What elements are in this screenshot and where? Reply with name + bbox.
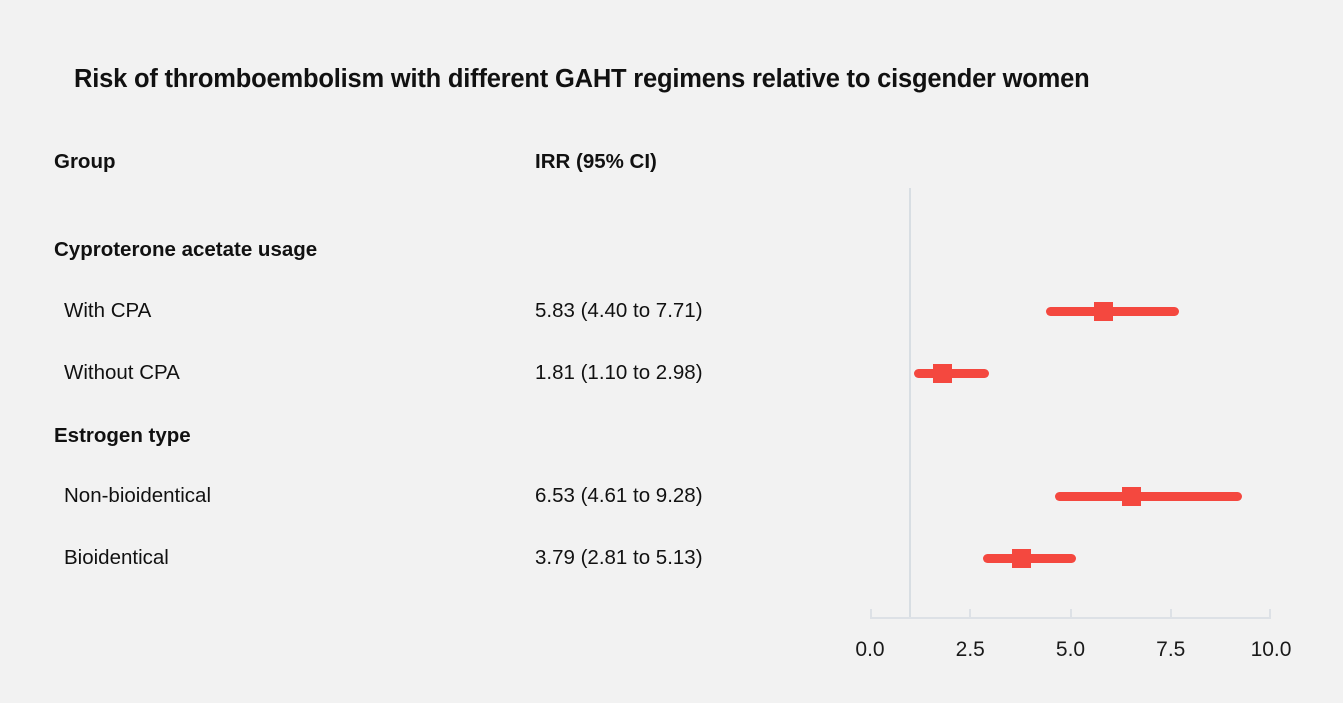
x-axis-tick-label: 10.0 xyxy=(1251,638,1292,662)
forest-plot-panel: 0.02.55.07.510.0 xyxy=(0,0,1343,703)
forest-plot-figure: Risk of thromboembolism with different G… xyxy=(0,0,1343,703)
x-axis-tick xyxy=(1070,609,1072,617)
x-axis-tick xyxy=(969,609,971,617)
x-axis-tick-label: 2.5 xyxy=(956,638,985,662)
reference-line xyxy=(909,188,911,617)
x-axis-tick-label: 0.0 xyxy=(855,638,884,662)
x-axis-spine xyxy=(870,617,1271,619)
x-axis-tick-label: 5.0 xyxy=(1056,638,1085,662)
point-estimate-marker xyxy=(933,364,952,383)
x-axis-end-cap xyxy=(1269,609,1271,617)
point-estimate-marker xyxy=(1012,549,1031,568)
x-axis-tick-label: 7.5 xyxy=(1156,638,1185,662)
point-estimate-marker xyxy=(1094,302,1113,321)
x-axis-start-cap xyxy=(870,609,872,617)
x-axis-tick xyxy=(1170,609,1172,617)
point-estimate-marker xyxy=(1122,487,1141,506)
confidence-interval-bar xyxy=(1055,492,1242,501)
